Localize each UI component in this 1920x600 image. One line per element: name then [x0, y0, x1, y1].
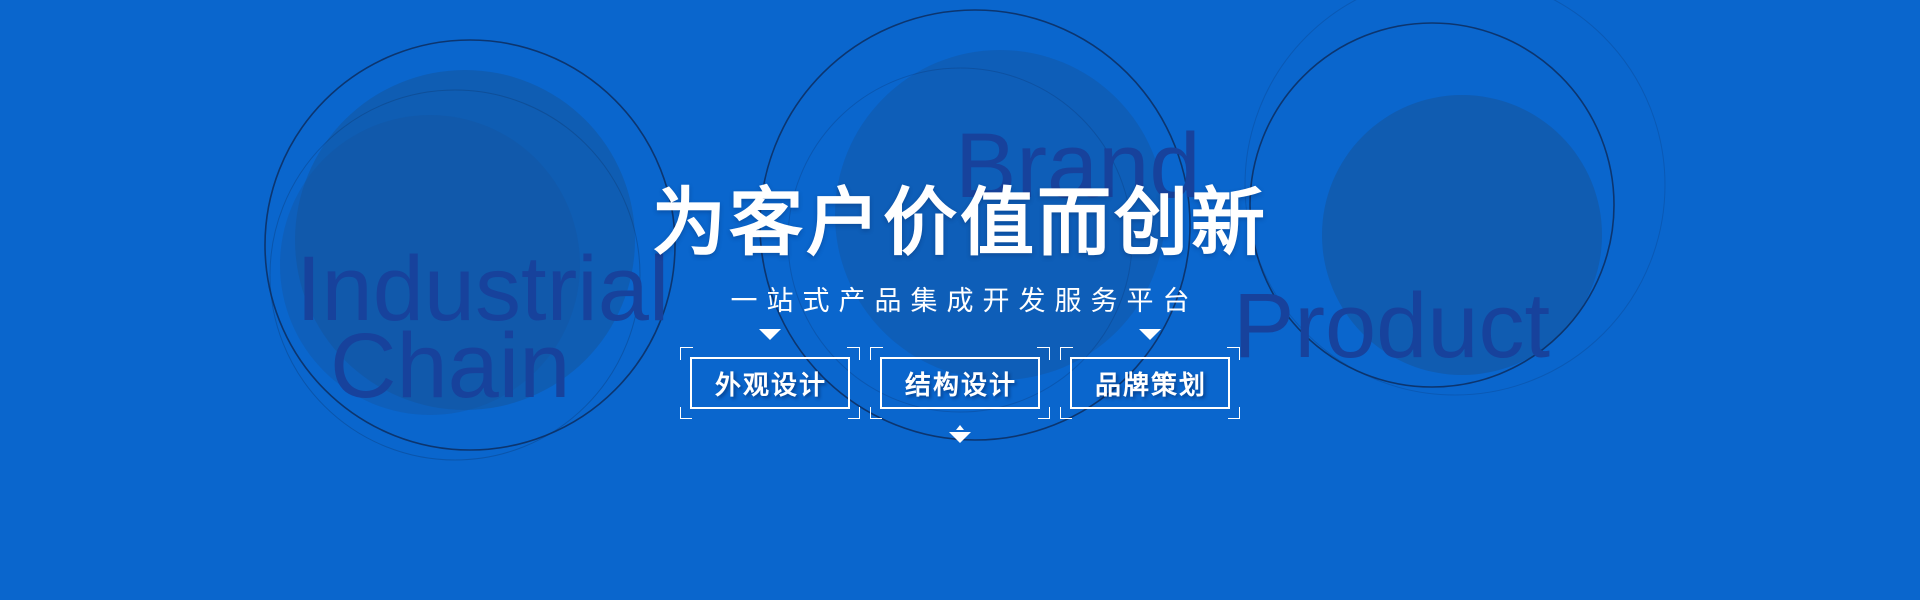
triangle-down-icon — [1139, 329, 1161, 340]
service-button-wrap-brand-planning: 品牌策划 — [1070, 357, 1230, 409]
service-button-row: 外观设计 结构设计 品牌策划 — [0, 357, 1920, 409]
service-button-brand-planning[interactable]: 品牌策划 — [1070, 357, 1230, 409]
triangle-down-icon — [759, 329, 781, 340]
service-button-wrap-appearance-design: 外观设计 — [690, 357, 850, 409]
hero-banner: Industrial Chain Brand Product 为客户价值而创新 … — [0, 0, 1920, 600]
banner-content: 为客户价值而创新 一站式产品集成开发服务平台 外观设计 结构设计 品牌策划 — [0, 0, 1920, 409]
banner-sub-title: 一站式产品集成开发服务平台 — [0, 288, 1920, 315]
service-button-structure-design[interactable]: 结构设计 — [880, 357, 1040, 409]
service-button-appearance-design[interactable]: 外观设计 — [690, 357, 850, 409]
banner-main-title: 为客户价值而创新 — [0, 186, 1920, 260]
service-button-wrap-structure-design: 结构设计 — [880, 357, 1040, 409]
